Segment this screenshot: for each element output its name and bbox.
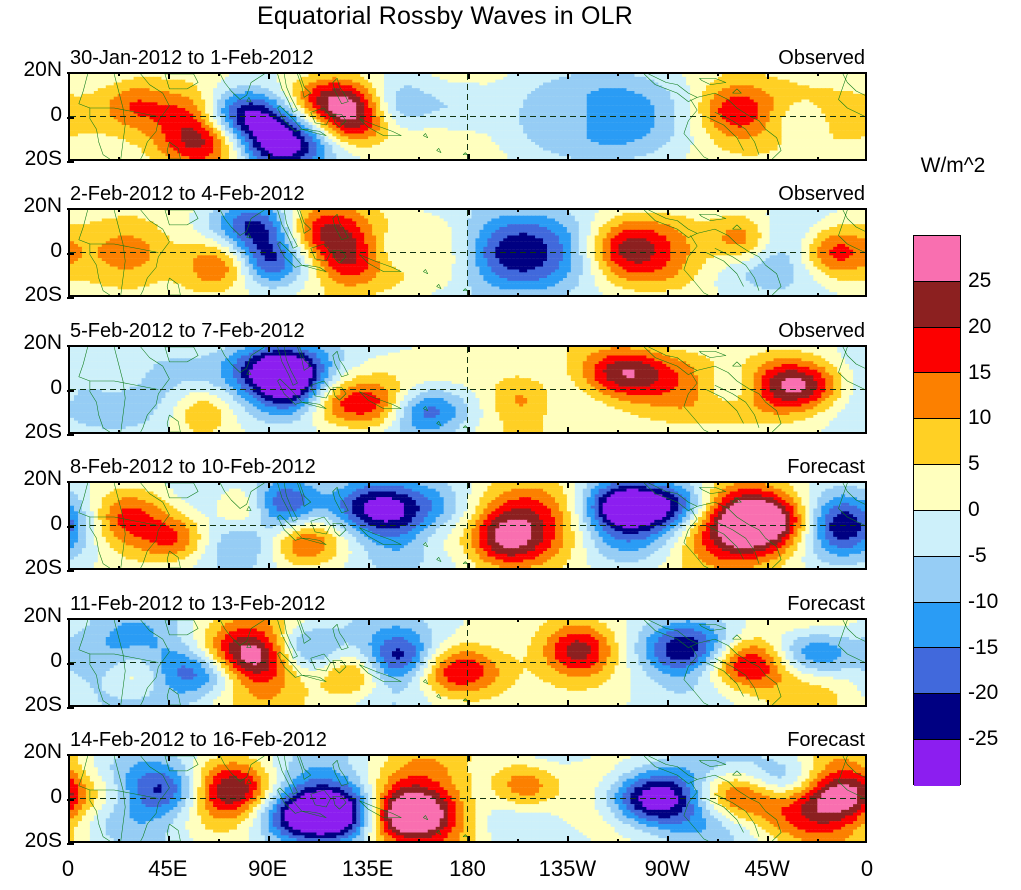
x-tick-mark [617,839,619,843]
y-tick-label: 20S [0,693,62,717]
x-tick-mark [118,703,120,707]
x-tick-mark [268,72,270,79]
y-tick-mark [67,618,74,620]
x-tick-mark [717,703,719,707]
x-tick-mark [468,345,470,352]
x-tick-mark [567,481,569,488]
x-tick-mark [767,836,769,843]
x-tick-mark [667,563,669,570]
y-tick-mark [67,117,74,119]
x-tick-mark [418,157,420,161]
x-tick-mark [368,700,370,707]
x-tick-mark [418,430,420,434]
map-panel-4[interactable] [68,481,867,570]
x-tick-mark [368,154,370,161]
x-tick-mark [567,208,569,215]
figure-title: Equatorial Rossby Waves in OLR [0,2,890,31]
x-tick-mark [567,427,569,434]
y-tick-label: 0 [0,649,62,673]
colorbar-band-4 [914,419,960,465]
x-tick-mark [817,754,819,758]
x-tick-mark [268,481,270,488]
x-tick-mark [118,430,120,434]
x-tick-mark [118,754,120,758]
x-tick-mark [168,154,170,161]
x-tick-mark [468,618,470,625]
x-tick-mark [368,72,370,79]
x-tick-mark [168,290,170,297]
y-tick-label: 20N [0,331,62,355]
x-tick-mark [717,293,719,297]
y-tick-label: 20N [0,58,62,82]
x-tick-mark [418,618,420,622]
x-tick-mark [667,836,669,843]
panel-label-row-3: 5-Feb-2012 to 7-Feb-2012Observed [68,320,867,344]
x-tick-mark [168,72,170,79]
x-tick-mark [617,566,619,570]
x-tick-mark [218,703,220,707]
x-tick-mark [468,72,470,79]
y-tick-label: 20N [0,740,62,764]
y-tick-mark [67,663,74,665]
y-tick-mark [67,208,74,210]
x-tick-mark [767,481,769,488]
x-tick-mark [268,208,270,215]
x-tick-mark [517,345,519,349]
y-tick-mark [67,526,74,528]
x-tick-mark [318,481,320,485]
x-tick-mark [318,566,320,570]
x-tick-mark [717,72,719,76]
x-tick-mark [468,208,470,215]
x-tick-mark [617,481,619,485]
x-tick-mark [318,72,320,76]
x-tick-mark [767,754,769,761]
colorbar-tick-label: 15 [968,361,991,385]
reference-lines [70,620,865,705]
x-tick-mark [218,481,220,485]
x-tick-mark [268,563,270,570]
x-tick-mark [767,72,769,79]
x-tick-mark [817,566,819,570]
x-tick-mark [767,290,769,297]
x-tick-mark [617,703,619,707]
x-tick-mark [717,430,719,434]
panel-date-label: 8-Feb-2012 to 10-Feb-2012 [70,456,316,479]
x-tick-mark [517,72,519,76]
y-tick-label: 0 [0,512,62,536]
x-tick-mark [168,345,170,352]
colorbar-tick-label: -5 [968,544,987,568]
x-tick-mark [667,208,669,215]
x-tick-label: 90W [645,856,690,882]
y-tick-mark [67,72,74,74]
x-tick-mark [168,208,170,215]
x-tick-mark [717,345,719,349]
colorbar-band-8 [914,603,960,649]
x-tick-mark [517,703,519,707]
x-tick-mark [717,618,719,622]
x-tick-mark [468,427,470,434]
x-tick-mark [368,618,370,625]
x-tick-mark [817,293,819,297]
x-tick-mark [617,72,619,76]
panel-label-row-4: 8-Feb-2012 to 10-Feb-2012Forecast [68,456,867,480]
colorbar-tick-label: 20 [968,315,991,339]
x-tick-mark [517,208,519,212]
x-tick-mark [318,157,320,161]
map-panel-5[interactable] [68,618,867,707]
y-tick-label: 20S [0,283,62,307]
x-tick-mark [368,563,370,570]
x-tick-mark [517,481,519,485]
colorbar-tick-label: -25 [968,727,998,751]
x-tick-mark [268,154,270,161]
colorbar-tick-label: -10 [968,590,998,614]
y-tick-label: 20S [0,556,62,580]
x-tick-mark [717,157,719,161]
x-tick-label: 135W [539,856,596,882]
y-tick-mark [67,434,74,436]
panel-kind-label: Observed [778,183,865,206]
x-tick-mark [617,754,619,758]
x-tick-mark [118,618,120,622]
x-tick-mark [418,703,420,707]
x-tick-mark [368,208,370,215]
x-tick-mark [817,208,819,212]
x-tick-mark [767,208,769,215]
x-tick-mark [218,72,220,76]
colorbar-band-10 [914,694,960,740]
x-tick-mark [468,700,470,707]
x-tick-mark [517,839,519,843]
x-tick-mark [318,345,320,349]
x-tick-mark [418,754,420,758]
x-tick-mark [767,154,769,161]
panel-label-row-1: 30-Jan-2012 to 1-Feb-2012Observed [68,47,867,71]
x-tick-mark [667,700,669,707]
x-tick-mark [418,293,420,297]
x-tick-mark [268,345,270,352]
colorbar [913,235,961,785]
x-tick-mark [268,290,270,297]
x-tick-mark [118,566,120,570]
y-tick-label: 20N [0,604,62,628]
x-tick-mark [368,754,370,761]
x-tick-mark [567,563,569,570]
y-tick-label: 20S [0,829,62,853]
x-tick-mark [218,839,220,843]
x-tick-mark [817,703,819,707]
colorbar-unit-label: W/m^2 [898,154,1008,178]
x-tick-mark [218,566,220,570]
x-tick-mark [517,293,519,297]
x-tick-mark [318,618,320,622]
x-tick-mark [368,345,370,352]
panel-kind-label: Forecast [787,593,865,616]
x-tick-mark [817,839,819,843]
x-tick-mark [617,208,619,212]
x-tick-mark [418,481,420,485]
y-tick-mark [67,481,74,483]
x-tick-mark [118,839,120,843]
colorbar-tick-label: 0 [968,498,980,522]
x-tick-mark [118,157,120,161]
x-tick-mark [168,618,170,625]
x-tick-mark [118,208,120,212]
y-tick-mark [67,345,74,347]
x-tick-mark [218,293,220,297]
y-tick-mark [67,799,74,801]
x-tick-mark [567,72,569,79]
x-tick-mark [817,157,819,161]
x-tick-mark [817,618,819,622]
reference-lines [70,74,865,159]
x-tick-mark [368,481,370,488]
x-tick-mark [717,754,719,758]
x-tick-mark [168,481,170,488]
panel-date-label: 11-Feb-2012 to 13-Feb-2012 [70,593,325,616]
x-tick-mark [218,208,220,212]
x-tick-mark [767,618,769,625]
y-tick-mark [67,161,74,163]
y-tick-label: 0 [0,239,62,263]
x-tick-mark [767,427,769,434]
panel-date-label: 14-Feb-2012 to 16-Feb-2012 [70,729,327,752]
y-tick-label: 20S [0,147,62,171]
panel-date-label: 5-Feb-2012 to 7-Feb-2012 [70,320,305,343]
y-tick-mark [67,754,74,756]
x-tick-mark [567,754,569,761]
colorbar-band-0 [914,236,960,282]
colorbar-band-7 [914,557,960,603]
x-tick-mark [218,754,220,758]
panel-label-row-6: 14-Feb-2012 to 16-Feb-2012Forecast [68,729,867,753]
x-tick-mark [318,839,320,843]
x-tick-mark [617,618,619,622]
x-tick-mark [617,157,619,161]
reference-lines [70,483,865,568]
y-tick-mark [67,707,74,709]
y-tick-mark [67,843,74,845]
x-tick-mark [318,703,320,707]
x-tick-mark [667,481,669,488]
panel-kind-label: Forecast [787,456,865,479]
colorbar-tick-label: -15 [968,636,998,660]
panel-kind-label: Observed [778,320,865,343]
x-tick-mark [817,345,819,349]
y-tick-label: 20N [0,194,62,218]
x-tick-mark [318,208,320,212]
y-tick-mark [67,297,74,299]
x-tick-mark [517,618,519,622]
x-tick-mark [268,836,270,843]
x-tick-mark [667,618,669,625]
colorbar-band-1 [914,282,960,328]
x-tick-mark [118,345,120,349]
x-tick-mark [817,72,819,76]
x-tick-mark [168,754,170,761]
x-tick-mark [667,290,669,297]
y-tick-label: 0 [0,103,62,127]
x-tick-mark [667,427,669,434]
x-tick-mark [218,345,220,349]
x-tick-label: 90E [248,856,287,882]
x-tick-mark [368,427,370,434]
x-tick-mark [418,566,420,570]
map-panel-3[interactable] [68,345,867,434]
x-tick-mark [567,700,569,707]
reference-lines [70,347,865,432]
x-tick-mark [468,563,470,570]
x-tick-mark [118,293,120,297]
x-tick-mark [567,618,569,625]
x-tick-mark [118,481,120,485]
x-tick-mark [268,427,270,434]
colorbar-tick-label: 10 [968,406,991,430]
x-tick-mark [168,836,170,843]
x-tick-mark [318,754,320,758]
x-tick-mark [118,72,120,76]
x-tick-mark [218,157,220,161]
x-tick-mark [567,345,569,352]
x-tick-label: 0 [861,856,873,882]
x-tick-mark [318,293,320,297]
x-tick-mark [468,836,470,843]
colorbar-tick-label: 25 [968,269,991,293]
x-tick-mark [817,481,819,485]
x-tick-mark [667,72,669,79]
x-tick-label: 135E [342,856,393,882]
x-tick-mark [717,481,719,485]
x-tick-mark [468,754,470,761]
x-tick-mark [617,430,619,434]
x-tick-mark [717,208,719,212]
x-tick-mark [218,430,220,434]
x-tick-mark [318,430,320,434]
panel-kind-label: Forecast [787,729,865,752]
colorbar-band-3 [914,373,960,419]
colorbar-band-5 [914,465,960,511]
colorbar-band-11 [914,740,960,786]
x-tick-mark [717,566,719,570]
x-tick-mark [368,290,370,297]
map-panel-6[interactable] [68,754,867,843]
figure-root: Equatorial Rossby Waves in OLR 30-Jan-20… [0,0,1021,890]
colorbar-band-6 [914,511,960,557]
x-tick-mark [517,754,519,758]
x-tick-mark [418,839,420,843]
x-tick-label: 180 [449,856,486,882]
x-tick-mark [667,345,669,352]
x-tick-mark [268,618,270,625]
y-tick-label: 0 [0,376,62,400]
y-tick-mark [67,570,74,572]
colorbar-band-2 [914,328,960,374]
x-tick-mark [418,345,420,349]
x-tick-mark [667,754,669,761]
colorbar-band-9 [914,648,960,694]
y-tick-mark [67,390,74,392]
y-tick-label: 20N [0,467,62,491]
x-tick-mark [168,700,170,707]
x-tick-mark [767,700,769,707]
y-tick-mark [67,253,74,255]
x-tick-mark [617,293,619,297]
x-tick-mark [218,618,220,622]
x-tick-label: 45W [745,856,790,882]
x-tick-mark [268,754,270,761]
x-tick-label: 45E [148,856,187,882]
y-tick-label: 0 [0,785,62,809]
colorbar-tick-label: -20 [968,681,998,705]
x-tick-mark [418,72,420,76]
x-tick-mark [717,839,719,843]
x-tick-mark [767,345,769,352]
y-tick-label: 20S [0,420,62,444]
x-tick-mark [617,345,619,349]
colorbar-tick-label: 5 [968,452,980,476]
x-tick-mark [268,700,270,707]
x-tick-mark [567,154,569,161]
x-tick-mark [368,836,370,843]
x-tick-mark [468,481,470,488]
panel-kind-label: Observed [778,47,865,70]
x-tick-mark [168,563,170,570]
x-tick-mark [168,427,170,434]
x-tick-mark [767,563,769,570]
map-panel-2[interactable] [68,208,867,297]
x-tick-mark [517,566,519,570]
map-panel-1[interactable] [68,72,867,161]
x-tick-mark [517,157,519,161]
x-tick-mark [817,430,819,434]
reference-lines [70,210,865,295]
x-tick-label: 0 [62,856,74,882]
x-tick-mark [567,836,569,843]
x-tick-mark [468,154,470,161]
x-tick-mark [517,430,519,434]
x-tick-mark [567,290,569,297]
x-tick-mark [468,290,470,297]
panel-label-row-2: 2-Feb-2012 to 4-Feb-2012Observed [68,183,867,207]
panel-label-row-5: 11-Feb-2012 to 13-Feb-2012Forecast [68,593,867,617]
x-tick-mark [667,154,669,161]
panel-date-label: 2-Feb-2012 to 4-Feb-2012 [70,183,305,206]
x-tick-mark [418,208,420,212]
reference-lines [70,756,865,841]
panel-date-label: 30-Jan-2012 to 1-Feb-2012 [70,47,314,70]
